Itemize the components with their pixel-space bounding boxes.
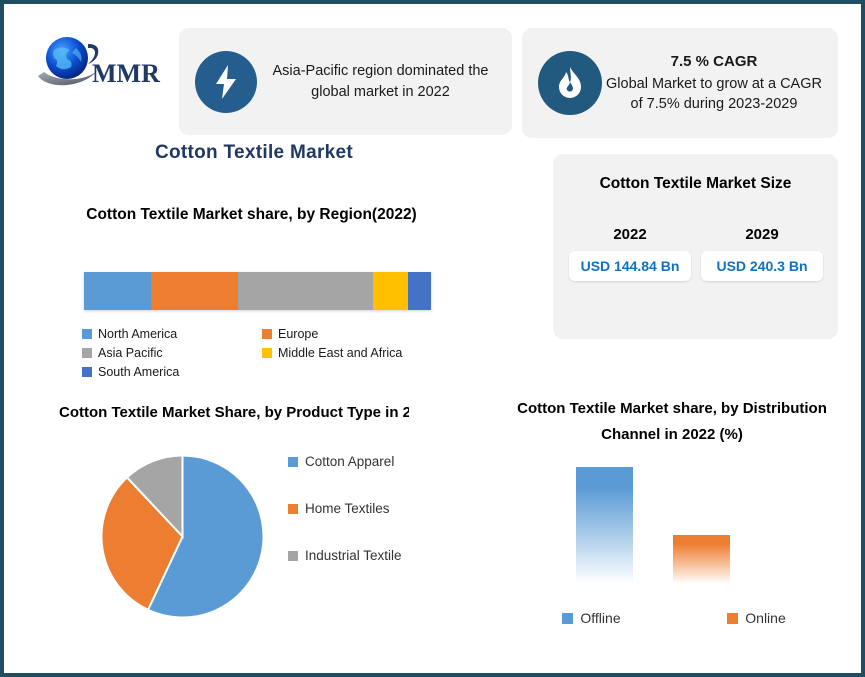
legend-label: Europe <box>278 327 318 341</box>
market-size-value: USD 144.84 Bn <box>569 251 691 281</box>
legend-item: Asia Pacific <box>82 343 262 362</box>
bar-offline <box>576 467 633 584</box>
legend-item: South America <box>82 362 262 381</box>
flame-icon <box>538 51 602 115</box>
highlight-cagr-text: 7.5 % CAGR Global Market to grow at a CA… <box>602 52 826 114</box>
legend-label: North America <box>98 327 177 341</box>
product-type-chart-title: Cotton Textile Market Share, by Product … <box>59 400 409 426</box>
market-size-panel: Cotton Textile Market Size 2022 USD 144.… <box>553 154 838 339</box>
page-title: Cotton Textile Market <box>64 142 444 164</box>
legend-label: South America <box>98 365 179 379</box>
region-chart-title: Cotton Textile Market share, by Region(2… <box>54 202 449 227</box>
legend-label: Asia Pacific <box>98 346 163 360</box>
legend-swatch-online <box>727 613 738 624</box>
highlight-card-region: Asia-Pacific region dominated the global… <box>179 28 512 135</box>
legend-item: Industrial Textile <box>288 546 418 566</box>
stacked-segment-middle-east-africa <box>373 272 408 310</box>
region-chart-legend: North America Europe Asia Pacific Middle… <box>82 324 442 381</box>
legend-swatch-offline <box>562 613 573 624</box>
product-type-legend: Cotton Apparel Home Textiles Industrial … <box>288 452 418 593</box>
legend-label: Online <box>745 610 785 626</box>
region-stacked-bar-chart <box>84 272 431 310</box>
lightning-bolt-icon <box>195 51 257 113</box>
legend-item: Home Textiles <box>288 499 418 519</box>
legend-label: Offline <box>580 610 620 626</box>
legend-label: Cotton Apparel <box>305 452 394 472</box>
bar-online <box>673 535 730 584</box>
highlight-region-text: Asia-Pacific region dominated the global… <box>257 61 498 103</box>
market-size-year: 2029 <box>701 226 823 243</box>
stacked-segment-north-america <box>84 272 151 310</box>
legend-swatch-cotton-apparel <box>288 457 298 467</box>
market-size-column-2022: 2022 USD 144.84 Bn <box>569 226 691 281</box>
cagr-title: 7.5 % CAGR <box>602 52 826 72</box>
globe-swoosh-logo: MMR <box>36 30 166 96</box>
distribution-legend: Offline Online <box>509 610 839 626</box>
legend-swatch-home-textiles <box>288 504 298 514</box>
legend-swatch-middle-east-africa <box>262 348 272 358</box>
legend-item: Cotton Apparel <box>288 452 418 472</box>
legend-item: Europe <box>262 324 442 343</box>
distribution-chart-title: Cotton Textile Market share, by Distribu… <box>497 396 847 448</box>
cagr-body: Global Market to grow at a CAGR of 7.5% … <box>602 74 826 114</box>
legend-item: Online <box>674 610 839 626</box>
market-size-year: 2022 <box>569 226 691 243</box>
mmr-logo: MMR <box>36 30 166 96</box>
legend-swatch-north-america <box>82 329 92 339</box>
market-size-column-2029: 2029 USD 240.3 Bn <box>701 226 823 281</box>
infographic-frame: MMR Asia-Pacific region dominated the gl… <box>0 0 865 677</box>
legend-label: Home Textiles <box>305 499 390 519</box>
market-size-value: USD 240.3 Bn <box>701 251 823 281</box>
legend-swatch-south-america <box>82 367 92 377</box>
legend-item: North America <box>82 324 262 343</box>
stacked-segment-europe <box>151 272 238 310</box>
svg-text:MMR: MMR <box>92 59 160 88</box>
stacked-segment-south-america <box>408 272 431 310</box>
distribution-bar-chart <box>509 449 839 584</box>
market-size-title: Cotton Textile Market Size <box>553 175 838 193</box>
legend-label: Middle East and Africa <box>278 346 402 360</box>
legend-item: Offline <box>509 610 674 626</box>
legend-swatch-europe <box>262 329 272 339</box>
stacked-segment-asia-pacific <box>238 272 373 310</box>
legend-swatch-asia-pacific <box>82 348 92 358</box>
highlight-card-cagr: 7.5 % CAGR Global Market to grow at a CA… <box>522 28 838 138</box>
legend-swatch-industrial-textile <box>288 551 298 561</box>
legend-item: Middle East and Africa <box>262 343 442 362</box>
legend-label: Industrial Textile <box>305 546 402 566</box>
product-type-pie-chart <box>100 454 265 619</box>
